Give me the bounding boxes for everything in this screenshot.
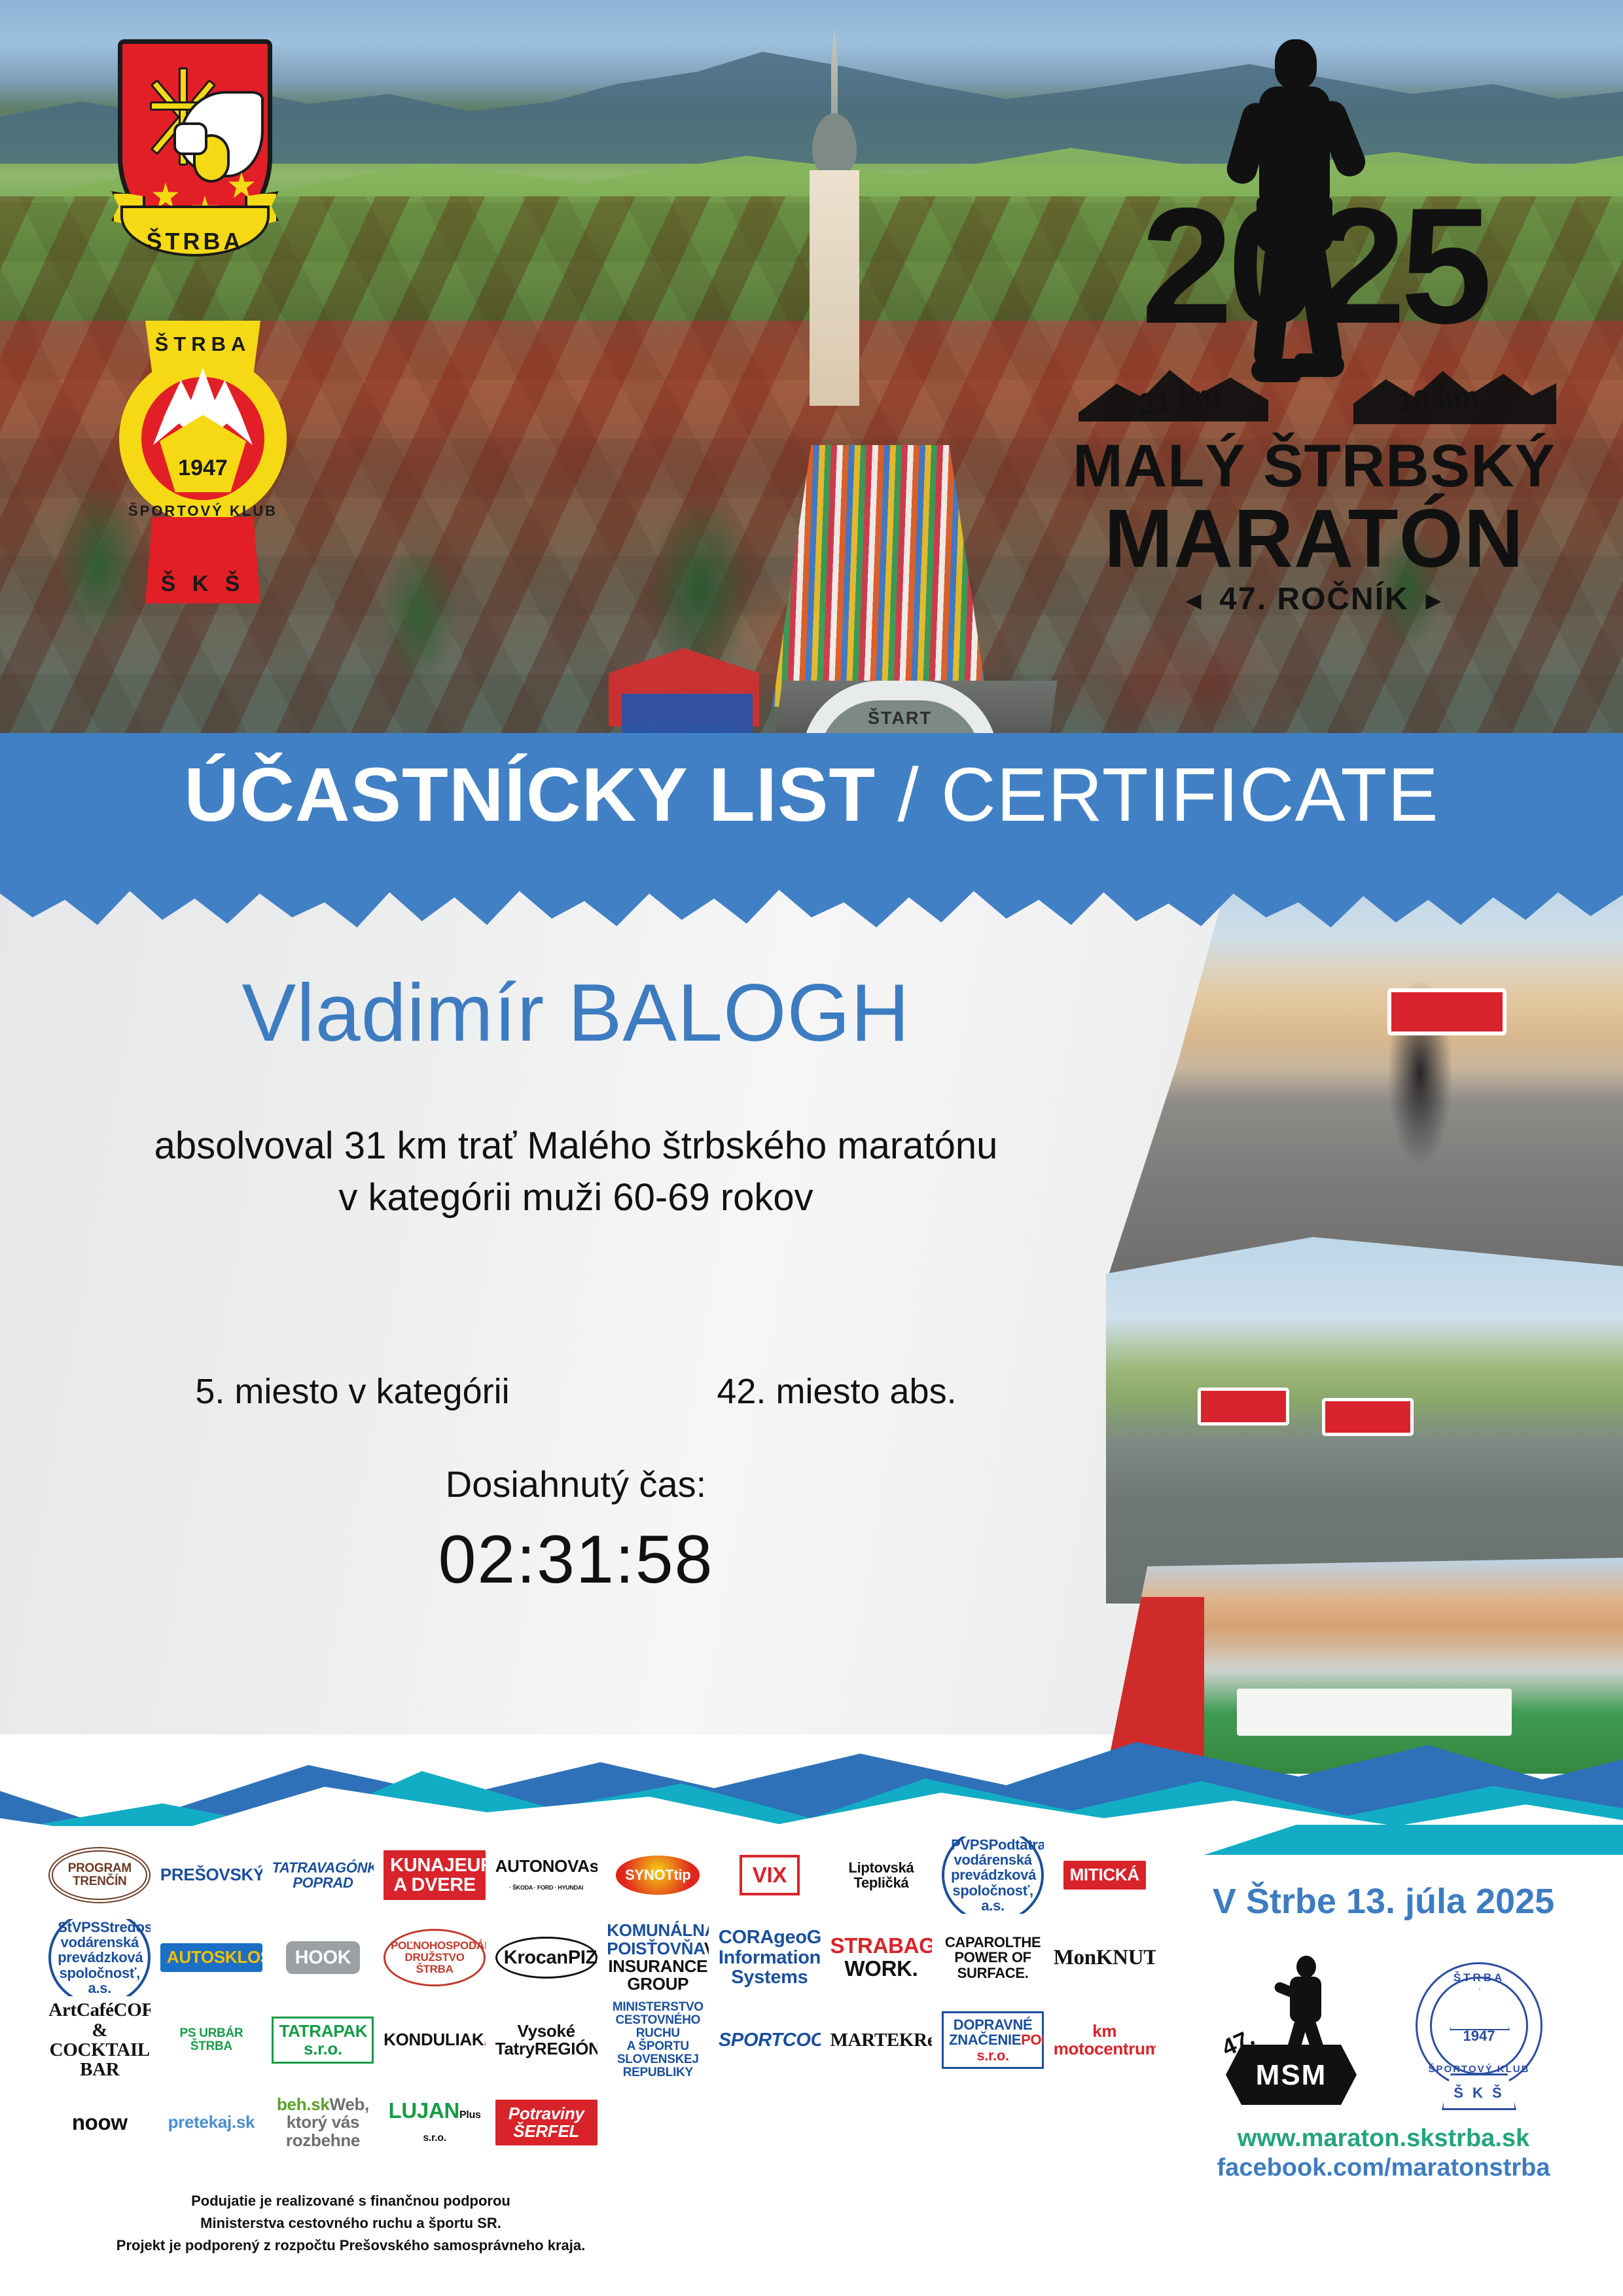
club-ring: ŠTRBA 1947 ŠPORTOVÝ KLUB <box>119 355 287 522</box>
sponsor-label: Vysoké TatryREGIÓN <box>495 2022 597 2058</box>
sponsor-sub: SERVIS <box>260 1947 262 1967</box>
facebook-url[interactable]: facebook.com/maratonstrba <box>1168 2153 1599 2184</box>
sponsor-label: PS URBÁR ŠTRBA <box>160 2027 262 2053</box>
finish-time-value: 02:31:58 <box>0 1521 1152 1599</box>
photo-runners-on-course <box>1106 1237 1623 1604</box>
sponsor-label: Potraviny ŠERFEL <box>495 2100 597 2146</box>
sponsor-logo: pretekaj.sk <box>160 2084 262 2161</box>
certificate-title-sk: ÚČASTNÍCKY LIST <box>184 752 876 837</box>
sponsor-label: km motocentrum <box>1054 2022 1156 2058</box>
sponsor-label: AUTONOVAs.r.o.SEAT · ŠKODA · FORD · HYUN… <box>495 1857 597 1893</box>
sponsor-line1: beh.sk <box>277 2094 330 2114</box>
sponsor-logo: Potraviny ŠERFEL <box>495 2084 597 2161</box>
strba-coat-of-arms: ŠTRBA <box>111 39 281 314</box>
sponsor-line1: LUJAN <box>389 2098 460 2123</box>
sponsor-line1: AUTONOVA <box>495 1856 590 1876</box>
photo-collage <box>1106 870 1623 1728</box>
runner-figure-icon <box>1279 1956 1332 2054</box>
sponsor-logo: CORAgeoGeographic Information Systems <box>719 1919 821 1996</box>
sponsor-logo: VIX <box>719 1837 821 1914</box>
website-url[interactable]: www.maraton.skstrba.sk <box>1168 2125 1599 2153</box>
place-absolute: 42. miesto abs. <box>717 1371 956 1412</box>
sponsor-logo: TATRAPAK s.r.o. <box>272 2001 374 2079</box>
sponsor-logo: STRABAGTEAMS WORK. <box>830 1919 932 1996</box>
sponsor-logo: PREŠOVSKÝSAMOSPRÁVNYKRAJ <box>160 1837 262 1914</box>
sponsor-logo: PS URBÁR ŠTRBA <box>160 2001 262 2079</box>
sponsor-label: CAPAROLTHE POWER OF SURFACE. <box>942 1935 1044 1980</box>
sponsor-logo: Liptovská Tepličká <box>830 1837 932 1914</box>
support-note-line-3: Projekt je podporený z rozpočtu Prešovsk… <box>63 2234 639 2257</box>
sponsor-line2: CESTOVNÉHO RUCHU <box>615 2013 700 2040</box>
sponsor-logo: MARTEKRestaurant <box>830 2001 932 2079</box>
sponsor-label: ArtCaféCOFFEE & COCKTAIL BAR <box>48 2001 151 2079</box>
support-note: Podujatie je realizované s finančnou pod… <box>63 2190 639 2257</box>
msm-emblem: 47. MSM <box>1219 1954 1363 2105</box>
stamp-acronym: Š K Š <box>1444 2085 1514 2102</box>
sponsor-line1: CAPAROL <box>945 1934 1012 1950</box>
sponsor-logo: TATRAVAGÓNKAPOPRAD <box>272 1837 374 1914</box>
sponsor-line1: AUTOSKLO <box>167 1947 260 1967</box>
sponsor-logo: noow <box>48 2084 151 2161</box>
sponsor-logo: KONDULIAKAUTOSLUŽBY <box>383 2001 486 2079</box>
sponsor-logo: MonKNUTRITION <box>1054 1919 1156 1996</box>
placement-row: 5. miesto v kategórii 42. miesto abs. <box>0 1371 1152 1412</box>
sponsor-line1: TATRAVAGÓNKA <box>272 1859 374 1876</box>
sponsor-label: KUNAJEUROOKNÁ A DVERE <box>383 1850 486 1901</box>
sponsor-logo: SYNOTtip <box>607 1837 709 1914</box>
event-edition: ◄47. ROČNÍK► <box>1065 581 1563 617</box>
participant-name: Vladimír BALOGH <box>0 969 1152 1058</box>
sponsor-sub: Restaurant <box>914 2030 932 2051</box>
sponsor-label: TATRAPAK s.r.o. <box>272 2017 374 2064</box>
sponsor-logo: ArtCaféCOFFEE & COCKTAIL BAR <box>48 2001 151 2079</box>
sponsor-label: CORAgeoGeographic Information Systems <box>719 1928 821 1987</box>
event-date: V Štrbe 13. júla 2025 <box>1168 1881 1599 1922</box>
sponsor-label: SPORTCOOLSPORTSWEAR <box>719 2030 821 2050</box>
sponsor-line1: KONDULIAK <box>383 2030 484 2049</box>
sponsor-line1: MonK <box>1054 1946 1113 1969</box>
sponsor-logo: Vysoké TatryREGIÓN <box>495 2001 597 2079</box>
distance-short-label: 10 km <box>1397 381 1480 420</box>
coat-of-arms-ribbon: ŠTRBA <box>111 191 279 264</box>
sponsor-line4: SLOVENSKEJ REPUBLIKY <box>617 2053 699 2079</box>
stamp-ring-bottom: ŠPORTOVÝ KLUB <box>1410 2064 1548 2075</box>
sponsor-line1: StVPS <box>58 1919 100 1935</box>
sponsor-label: POĽNOHOSPODÁRSKE DRUŽSTVO ŠTRBA <box>383 1929 486 1986</box>
certificate-main-text: Vladimír BALOGH absolvoval 31 km trať Ma… <box>0 969 1152 1223</box>
sponsor-logo: KOMUNÁLNA POISŤOVŇAVIENNA INSURANCE GROU… <box>607 1919 709 1996</box>
club-top-label: ŠTRBA <box>119 332 287 356</box>
sponsor-line1: KUNAJ <box>390 1855 454 1876</box>
start-arch-label: ŠTART <box>802 708 998 728</box>
sponsor-line1: SPORTCOOL <box>719 2030 821 2051</box>
arrow-right-icon: ► <box>1421 586 1448 616</box>
club-acronym: Š K Š <box>145 571 260 597</box>
event-edition-label: 47. ROČNÍK <box>1219 582 1408 617</box>
certificate-description: absolvoval 31 km trať Malého štrbského m… <box>0 1121 1152 1223</box>
sponsor-line2: POPRAD <box>293 1874 353 1891</box>
sks-stamp-emblem: ŠTRBA 1947 ŠPORTOVÝ KLUB Š K Š <box>1410 1954 1548 2105</box>
ribbon-bottom: Š K Š <box>145 517 260 603</box>
msm-diamond-icon: MSM <box>1226 2045 1357 2105</box>
sponsor-logo: PVPSPodtatranská vodárenská prevádzková … <box>942 1837 1044 1914</box>
sponsor-logo: AUTONOVAs.r.o.SEAT · ŠKODA · FORD · HYUN… <box>495 1837 597 1914</box>
sponsor-logo: PROGRAM TRENČÍN <box>48 1837 151 1914</box>
sponsor-label: StVPSStredoslovenská vodárenská prevádzk… <box>48 1919 151 1996</box>
sponsor-label: MITICKÁ <box>1063 1861 1146 1889</box>
arrow-left-icon: ◄ <box>1181 586 1208 616</box>
sponsor-sub: PIZZA <box>568 1947 597 1968</box>
certificate-title-en: CERTIFICATE <box>941 752 1439 837</box>
sponsor-label: SYNOTtip <box>616 1856 700 1894</box>
sponsor-sub: s.r.o. <box>590 1856 597 1876</box>
runner-silhouette-icon <box>1229 39 1360 386</box>
sponsor-sub: NUTRITION <box>1113 1946 1156 1969</box>
sponsor-label: STRABAGTEAMS WORK. <box>830 1935 932 1980</box>
sponsor-label: KOMUNÁLNA POISŤOVŇAVIENNA INSURANCE GROU… <box>607 1922 709 1993</box>
event-name-line2: MARATÓN <box>1065 491 1563 586</box>
support-note-line-1: Podujatie je realizované s finančnou pod… <box>63 2190 639 2212</box>
sponsor-line1: STRABAG <box>830 1933 932 1958</box>
sponsor-line1: KOMUNÁLNA POISŤOVŇA <box>607 1920 709 1958</box>
sponsor-label: LUJANPlus s.r.o. <box>383 2100 486 2145</box>
footer-emblems: 47. MSM ŠTRBA 1947 ŠPORTOVÝ KLUB Š K Š <box>1168 1954 1599 2105</box>
sponsor-line1: DOPRAVNÉ ZNAČENIE <box>949 2017 1032 2048</box>
sponsor-logo: MINISTERSTVOCESTOVNÉHO RUCHUA ŠPORTUSLOV… <box>607 2001 709 2079</box>
sponsor-label: PREŠOVSKÝSAMOSPRÁVNYKRAJ <box>160 1866 262 1884</box>
blue-tent <box>622 694 753 733</box>
sponsor-label: HOOK <box>286 1941 361 1974</box>
sponsor-label: VIX <box>740 1855 800 1896</box>
sponsor-label: TATRAVAGÓNKAPOPRAD <box>272 1860 374 1890</box>
sponsor-logo: km motocentrum <box>1054 2001 1156 2079</box>
sponsor-label: MINISTERSTVOCESTOVNÉHO RUCHUA ŠPORTUSLOV… <box>607 2001 709 2079</box>
stamp-year: 1947 <box>1410 2028 1548 2045</box>
sponsor-label: beh.skWeb, ktorý vás rozbehne <box>272 2096 374 2149</box>
sponsor-label: AUTOSKLOSERVIS <box>160 1943 262 1971</box>
sponsor-label: PVPSPodtatranská vodárenská prevádzková … <box>942 1837 1044 1914</box>
sponsor-logo: AUTOSKLOSERVIS <box>160 1919 262 1996</box>
distance-row: 31 km 10 km <box>1065 347 1563 432</box>
sponsor-logo: POĽNOHOSPODÁRSKE DRUŽSTVO ŠTRBA <box>383 1919 486 1996</box>
footer-right-column: V Štrbe 13. júla 2025 47. MSM ŠTRBA 1947… <box>1168 1830 1599 2184</box>
sponsor-line1: PREŠOVSKÝ <box>160 1865 262 1884</box>
sponsor-logo: LUJANPlus s.r.o. <box>383 2084 486 2161</box>
description-line-1: absolvoval 31 km trať Malého štrbského m… <box>0 1121 1152 1172</box>
sponsor-logo: DOPRAVNÉ ZNAČENIEPOPRAD s.r.o. <box>942 2001 1044 2079</box>
support-note-line-2: Ministerstva cestovného ruchu a športu S… <box>63 2212 639 2234</box>
certificate-title-separator: / <box>876 752 941 837</box>
sponsor-line1: CORAgeo <box>719 1927 807 1948</box>
sponsor-logo: KrocanPIZZA <box>495 1919 597 1996</box>
sponsor-label: pretekaj.sk <box>168 2113 255 2131</box>
sponsor-logo: MITICKÁ <box>1054 1837 1156 1914</box>
sponsor-line1: MARTEK <box>830 2030 914 2051</box>
sponsor-logo: SPORTCOOLSPORTSWEAR <box>719 2001 821 2079</box>
description-line-2: v kategórii muži 60-69 rokov <box>0 1172 1152 1223</box>
finish-time-caption: Dosiahnutý čas: <box>0 1463 1152 1505</box>
sponsor-logo: beh.skWeb, ktorý vás rozbehne <box>272 2084 374 2161</box>
sponsor-label: KONDULIAKAUTOSLUŽBY <box>383 2031 486 2049</box>
sks-club-logo: ŠTRBA 1947 ŠPORTOVÝ KLUB Š K Š <box>105 321 301 602</box>
coat-of-arms-label: ŠTRBA <box>111 228 279 255</box>
sponsor-logo: HOOK <box>272 1919 374 1996</box>
sponsor-sub: AUTOSLUŽBY <box>484 2030 486 2049</box>
church-tower <box>795 29 874 409</box>
certificate-title: ÚČASTNÍCKY LIST / CERTIFICATE <box>0 757 1623 833</box>
certificate-banner: ÚČASTNÍCKY LIST / CERTIFICATE <box>0 733 1623 884</box>
sponsor-label: Liptovská Tepličká <box>830 1860 932 1890</box>
stamp-ring-top: ŠTRBA <box>1410 1971 1548 1984</box>
sponsor-line3: A ŠPORTU <box>627 2039 689 2053</box>
event-logo: 2025 31 km 10 km MALÝ ŠTRBSKÝ MARATÓN ◄4… <box>1065 39 1563 615</box>
sponsor-logo-grid: PROGRAM TRENČÍN PREŠOVSKÝSAMOSPRÁVNYKRAJ… <box>46 1837 1158 2161</box>
sponsor-logo: StVPSStredoslovenská vodárenská prevádzk… <box>48 1919 151 1996</box>
place-in-category: 5. miesto v kategórii <box>195 1371 509 1412</box>
sponsor-line1: ArtCafé <box>48 2001 113 2020</box>
sponsor-label: DOPRAVNÉ ZNAČENIEPOPRAD s.r.o. <box>942 2011 1044 2068</box>
sponsor-line1: PVPS <box>951 1837 989 1853</box>
sponsor-label: PROGRAM TRENČÍN <box>48 1847 151 1903</box>
sponsor-label: noow <box>72 2111 128 2134</box>
footer: PROGRAM TRENČÍN PREŠOVSKÝSAMOSPRÁVNYKRAJ… <box>0 1826 1623 2296</box>
photo-finisher-celebrating <box>1106 870 1623 1283</box>
sponsor-logo: CAPAROLTHE POWER OF SURFACE. <box>942 1919 1044 1996</box>
msm-acronym: MSM <box>1226 2059 1357 2092</box>
sponsor-logo: KUNAJEUROOKNÁ A DVERE <box>383 1837 486 1914</box>
sponsor-line1: Krocan <box>504 1947 568 1968</box>
fist-icon <box>173 122 207 155</box>
stamp-ribbon-bottom: Š K Š <box>1442 2073 1516 2110</box>
sponsor-sub: REGIÓN <box>535 2039 597 2058</box>
sponsor-line1: MINISTERSTVO <box>613 2001 704 2014</box>
finish-time-block: Dosiahnutý čas: 02:31:58 <box>0 1463 1152 1599</box>
sponsor-label: KrocanPIZZA <box>495 1937 597 1979</box>
mountain-wave-separator <box>0 1676 1623 1846</box>
sponsor-label: MonKNUTRITION <box>1054 1946 1156 1969</box>
sponsor-label: MARTEKRestaurant <box>830 2030 932 2050</box>
club-founded-year: 1947 <box>119 456 287 481</box>
